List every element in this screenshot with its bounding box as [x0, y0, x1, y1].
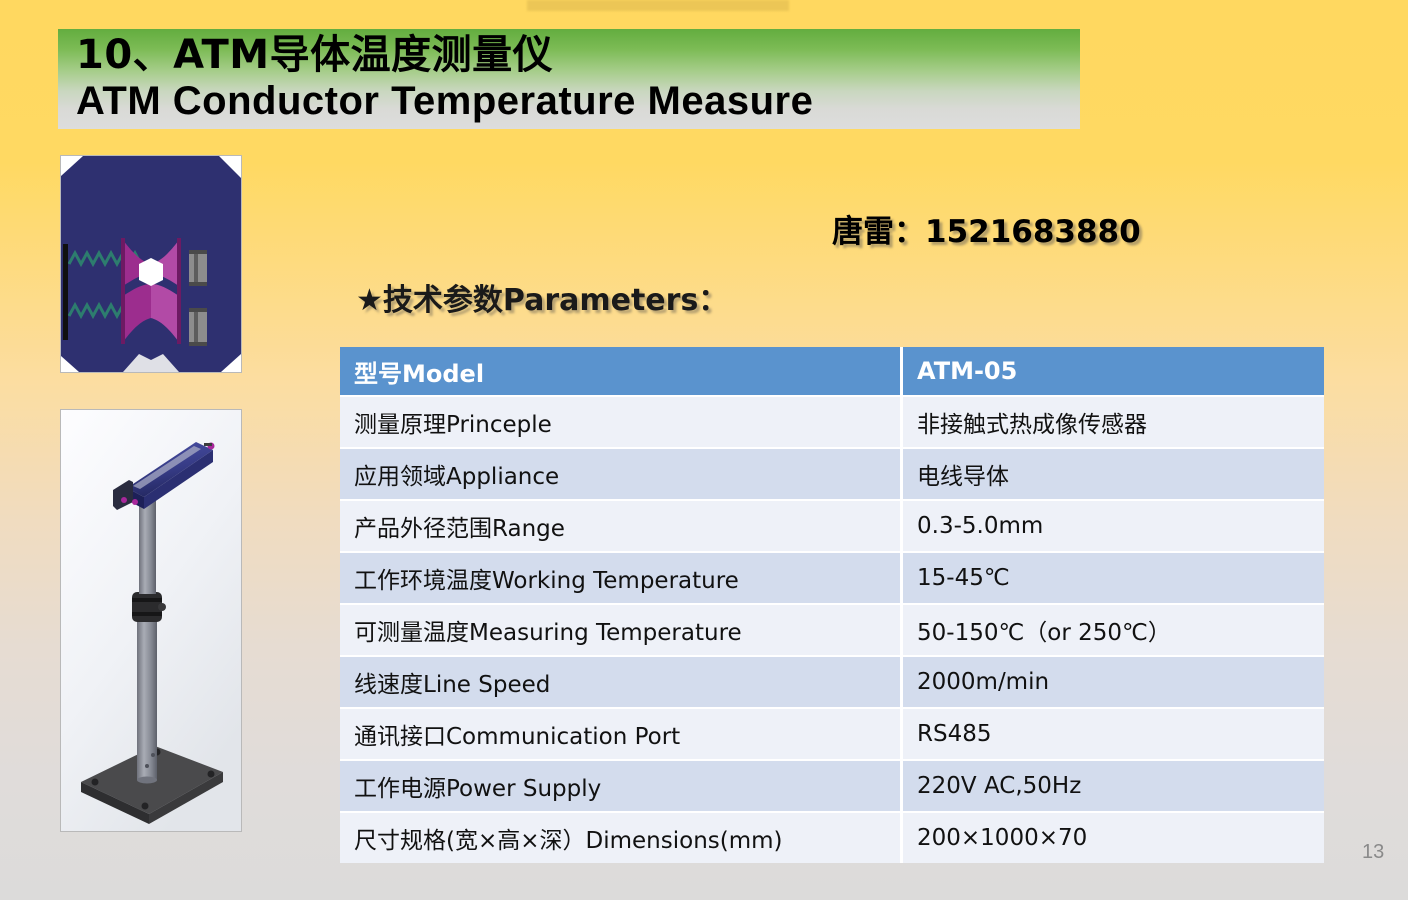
pole-clamp-collar — [132, 592, 166, 622]
title-english: ATM Conductor Temperature Measure — [76, 81, 813, 121]
roller-guide-illustration — [61, 156, 241, 372]
roller-shaft — [121, 238, 125, 344]
cylinder-lower — [189, 308, 207, 346]
row-value: 0.3-5.0mm — [903, 501, 1324, 553]
row-key: 应用领域Appliance — [340, 449, 903, 501]
title-chinese: 10、ATM导体温度测量仪 — [76, 35, 553, 75]
table-row: 通讯接口Communication Port RS485 — [340, 709, 1324, 761]
adjust-knob-left — [121, 497, 127, 503]
row-key: 测量原理Princeple — [340, 397, 903, 449]
row-key: 线速度Line Speed — [340, 657, 903, 709]
page-number: 13 — [1362, 841, 1384, 864]
table-row: 尺寸规格(宽×高×深）Dimensions(mm) 200×1000×70 — [340, 813, 1324, 863]
header-cell-value: ATM-05 — [903, 347, 1324, 397]
parameters-heading: ★技术参数Parameters： — [356, 275, 728, 319]
spring-mount-bar — [63, 244, 68, 340]
row-value: 200×1000×70 — [903, 813, 1324, 863]
table-row: 工作环境温度Working Temperature 15-45℃ — [340, 553, 1324, 605]
title-banner: 10、ATM导体温度测量仪 ATM Conductor Temperature … — [58, 29, 1080, 129]
table-row: 测量原理Princeple 非接触式热成像传感器 — [340, 397, 1324, 449]
table-header-row: 型号Model ATM-05 — [340, 347, 1324, 397]
pole-lower — [137, 620, 157, 784]
row-value: 2000m/min — [903, 657, 1324, 709]
row-key: 工作电源Power Supply — [340, 761, 903, 813]
spec-table-body: 型号Model ATM-05 测量原理Princeple 非接触式热成像传感器 … — [340, 347, 1324, 863]
row-value: 50-150℃（or 250℃） — [903, 605, 1324, 657]
table-row: 产品外径范围Range 0.3-5.0mm — [340, 501, 1324, 553]
contact-info: 唐雷：1521683880 — [832, 206, 1141, 251]
conductor-opening — [139, 258, 163, 286]
row-key: 可测量温度Measuring Temperature — [340, 605, 903, 657]
cylinder-upper — [189, 250, 207, 286]
row-key: 尺寸规格(宽×高×深）Dimensions(mm) — [340, 813, 903, 863]
row-value: RS485 — [903, 709, 1324, 761]
row-value: 非接触式热成像传感器 — [903, 397, 1324, 449]
row-key: 通讯接口Communication Port — [340, 709, 903, 761]
floor-stand-illustration — [61, 410, 241, 831]
table-row: 线速度Line Speed 2000m/min — [340, 657, 1324, 709]
row-value: 220V AC,50Hz — [903, 761, 1324, 813]
roller-guide-detail-photo — [60, 155, 242, 373]
roller-shaft-right — [177, 238, 181, 344]
row-key: 工作环境温度Working Temperature — [340, 553, 903, 605]
row-key: 产品外径范围Range — [340, 501, 903, 553]
adjust-knob-center — [132, 499, 138, 505]
table-row: 工作电源Power Supply 220V AC,50Hz — [340, 761, 1324, 813]
header-cell-model: 型号Model — [340, 347, 903, 397]
pole-upper — [139, 498, 156, 594]
top-edge-artifact — [527, 0, 789, 11]
row-value: 15-45℃ — [903, 553, 1324, 605]
table-row: 可测量温度Measuring Temperature 50-150℃（or 25… — [340, 605, 1324, 657]
specification-table: 型号Model ATM-05 测量原理Princeple 非接触式热成像传感器 … — [340, 347, 1324, 863]
row-value: 电线导体 — [903, 449, 1324, 501]
slide-canvas: 10、ATM导体温度测量仪 ATM Conductor Temperature … — [0, 0, 1408, 900]
table-row: 应用领域Appliance 电线导体 — [340, 449, 1324, 501]
floor-stand-sensor-photo — [60, 409, 242, 832]
